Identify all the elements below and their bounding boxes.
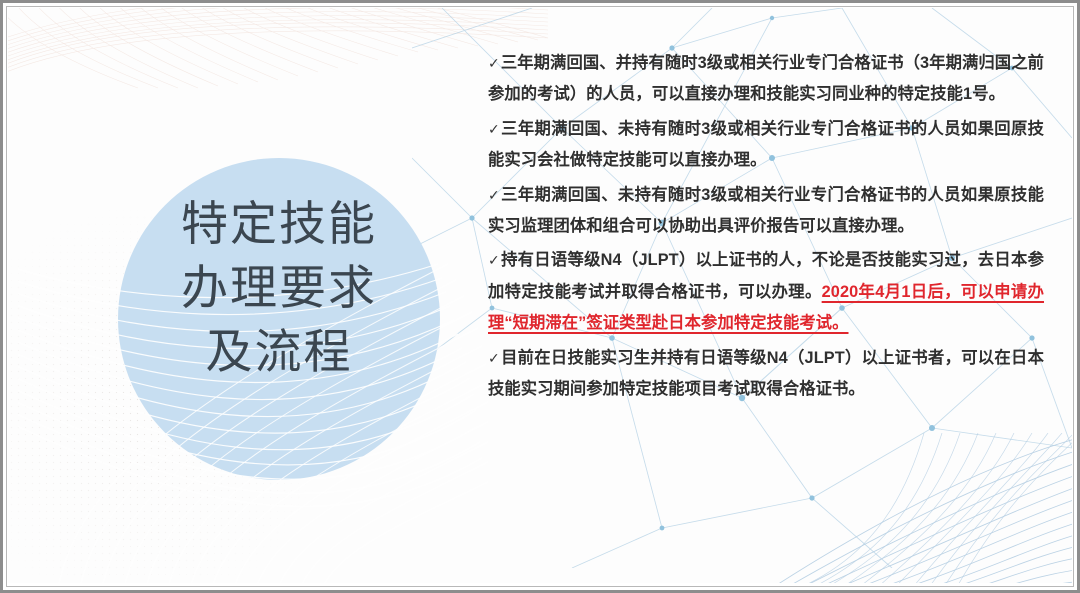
slide-canvas: 特定技能 办理要求 及流程 ✓三年期满回国、并持有随时3级或相关行业专门合格证书…	[0, 0, 1080, 593]
slide-title: 特定技能 办理要求 及流程	[118, 193, 440, 385]
list-item-highlighted: ✓持有日语等级N4（JLPT）以上证书的人，不论是否技能实习过，去日本参加特定技…	[488, 245, 1044, 339]
list-item-text: 三年期满回国、未持有随时3级或相关行业专门合格证书的人员如果回原技能实习会社做特…	[488, 120, 1044, 169]
pink-crosshatch-decoration	[8, 8, 548, 92]
title-line-2: 办理要求	[118, 257, 440, 321]
check-icon: ✓	[488, 252, 501, 268]
bullet-list: ✓三年期满回国、并持有随时3级或相关行业专门合格证书（3年期满归国之前参加的考试…	[488, 48, 1044, 408]
title-line-3: 及流程	[118, 321, 440, 385]
list-item-text: 目前在日技能实习生并持有日语等级N4（JLPT）以上证书者，可以在日本技能实习期…	[488, 349, 1044, 398]
list-item: ✓目前在日技能实习生并持有日语等级N4（JLPT）以上证书者，可以在日本技能实习…	[488, 343, 1044, 406]
slide-content-area: 特定技能 办理要求 及流程 ✓三年期满回国、并持有随时3级或相关行业专门合格证书…	[8, 8, 1072, 583]
check-icon: ✓	[488, 55, 501, 71]
title-line-1: 特定技能	[118, 193, 440, 257]
list-item: ✓三年期满回国、未持有随时3级或相关行业专门合格证书的人员如果原技能实习监理团体…	[488, 180, 1044, 243]
check-icon: ✓	[488, 350, 501, 366]
check-icon: ✓	[488, 121, 501, 137]
list-item: ✓三年期满回国、未持有随时3级或相关行业专门合格证书的人员如果回原技能实习会社做…	[488, 114, 1044, 177]
check-icon: ✓	[488, 187, 501, 203]
list-item-text: 三年期满回国、未持有随时3级或相关行业专门合格证书的人员如果原技能实习监理团体和…	[488, 186, 1044, 235]
list-item: ✓三年期满回国、并持有随时3级或相关行业专门合格证书（3年期满归国之前参加的考试…	[488, 48, 1044, 111]
blue-fan-decoration	[752, 433, 1072, 583]
list-item-text: 三年期满回国、并持有随时3级或相关行业专门合格证书（3年期满归国之前参加的考试）…	[488, 54, 1044, 103]
